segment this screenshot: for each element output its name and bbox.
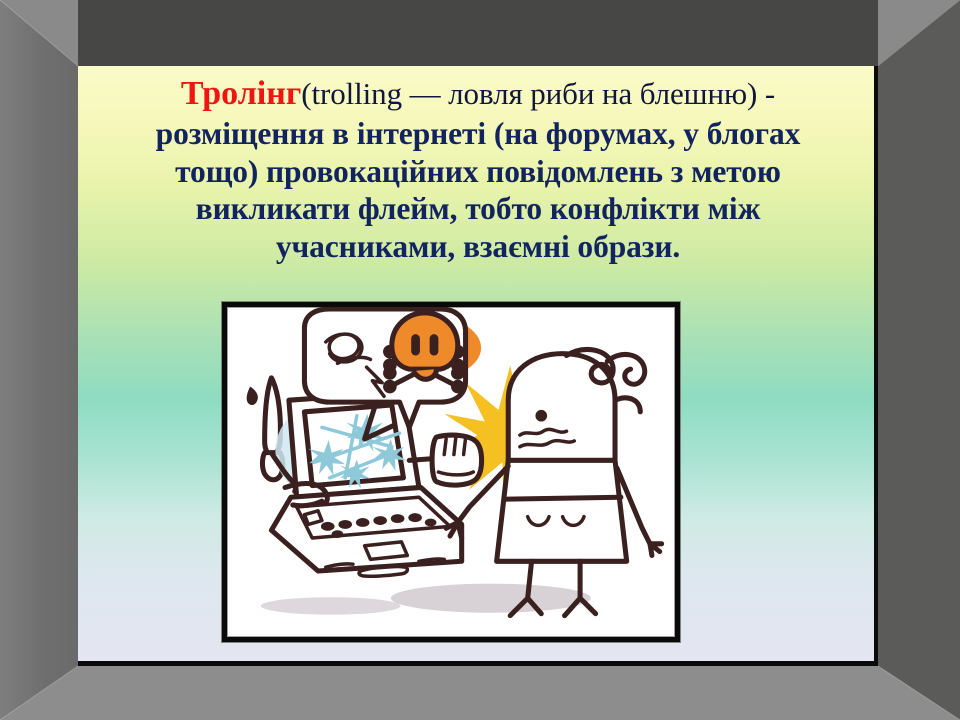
fist-icon	[409, 435, 481, 485]
content-panel: Тролінг(trolling — ловля риби на блешню)…	[78, 66, 878, 666]
definition-line-2: розміщення в інтернеті (на форумах, у бл…	[78, 115, 878, 153]
bevel-face-right	[878, 0, 960, 720]
definition-line-3: тощо) провокаційних повідомлень з метою	[78, 153, 878, 191]
definition-line-1: Тролінг(trolling — ловля риби на блешню)…	[78, 74, 878, 115]
laptop-icon	[271, 392, 461, 576]
trolling-illustration: .ink { fill:none; stroke:#3b2020; stroke…	[227, 307, 675, 637]
bevel-face-top	[78, 0, 878, 66]
term-trolling: Тролінг	[181, 75, 301, 112]
definition-text-block: Тролінг(trolling — ловля риби на блешню)…	[78, 74, 878, 266]
slide-root: Тролінг(trolling — ловля риби на блешню)…	[0, 0, 960, 720]
illustration-frame: .ink { fill:none; stroke:#3b2020; stroke…	[222, 302, 680, 642]
definition-line-5: учасниками, взаємні образи.	[78, 228, 878, 266]
bevel-face-left	[0, 0, 78, 720]
woman-figure	[446, 349, 661, 615]
term-gloss: (trolling — ловля риби на блешню) -	[301, 76, 775, 111]
bevel-face-bottom	[0, 666, 960, 720]
definition-line-4: викликати флейм, тобто конфлікти між	[78, 190, 878, 228]
